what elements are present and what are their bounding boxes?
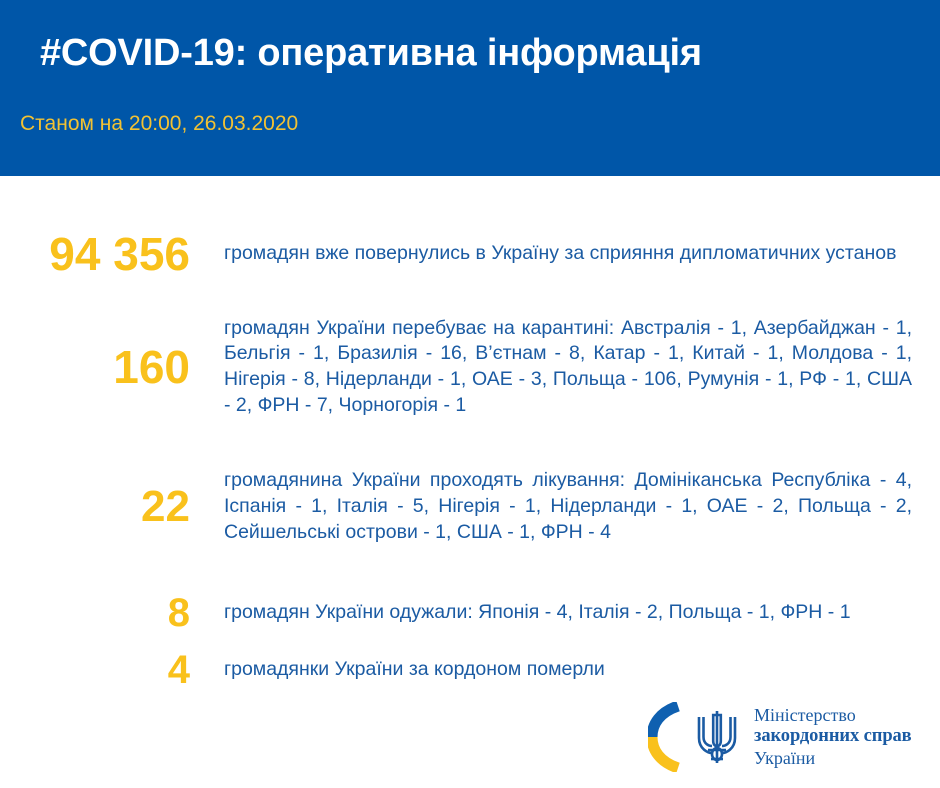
stat-description-died: громадянки України за кордоном померли bbox=[192, 657, 940, 683]
stat-row-quarantine: 160 громадян України перебуває на карант… bbox=[0, 302, 940, 432]
ukraine-trident-icon bbox=[694, 708, 740, 766]
header-banner: #COVID-19: оперативна інформація Станом … bbox=[0, 0, 940, 176]
stat-number-treatment: 22 bbox=[0, 485, 192, 529]
stat-number-returned: 94 356 bbox=[0, 231, 192, 277]
stat-description-treatment: громадянина України проходять лікування:… bbox=[192, 468, 940, 545]
stat-description-returned: громадян вже повернулись в Україну за сп… bbox=[192, 241, 940, 267]
logo-line-ukraine: України bbox=[754, 748, 930, 769]
statistics-list: 94 356 громадян вже повернулись в Україн… bbox=[0, 176, 940, 696]
stat-row-treatment: 22 громадянина України проходять лікуван… bbox=[0, 452, 940, 562]
ukraine-flag-arc-icon bbox=[648, 702, 682, 772]
stat-description-recovered: громадян України одужали: Японія - 4, Іт… bbox=[192, 600, 940, 626]
stat-row-recovered: 8 громадян України одужали: Японія - 4, … bbox=[0, 582, 940, 644]
ministry-logo: Міністерство закордонних справ України bbox=[648, 698, 930, 776]
logo-line-foreign-affairs: закордонних справ bbox=[754, 726, 930, 748]
stat-description-quarantine: громадян України перебуває на карантині:… bbox=[192, 316, 940, 419]
stat-number-died: 4 bbox=[0, 650, 192, 690]
ministry-logo-text: Міністерство закордонних справ України bbox=[754, 705, 930, 769]
header-timestamp: Станом на 20:00, 26.03.2020 bbox=[20, 112, 298, 136]
stat-number-quarantine: 160 bbox=[0, 344, 192, 390]
stat-row-died: 4 громадянки України за кордоном померли bbox=[0, 648, 940, 692]
stat-row-returned: 94 356 громадян вже повернулись в Україн… bbox=[0, 222, 940, 286]
stat-number-recovered: 8 bbox=[0, 593, 192, 633]
logo-line-ministry: Міністерство bbox=[754, 705, 930, 726]
page-title: #COVID-19: оперативна інформація bbox=[40, 32, 702, 75]
